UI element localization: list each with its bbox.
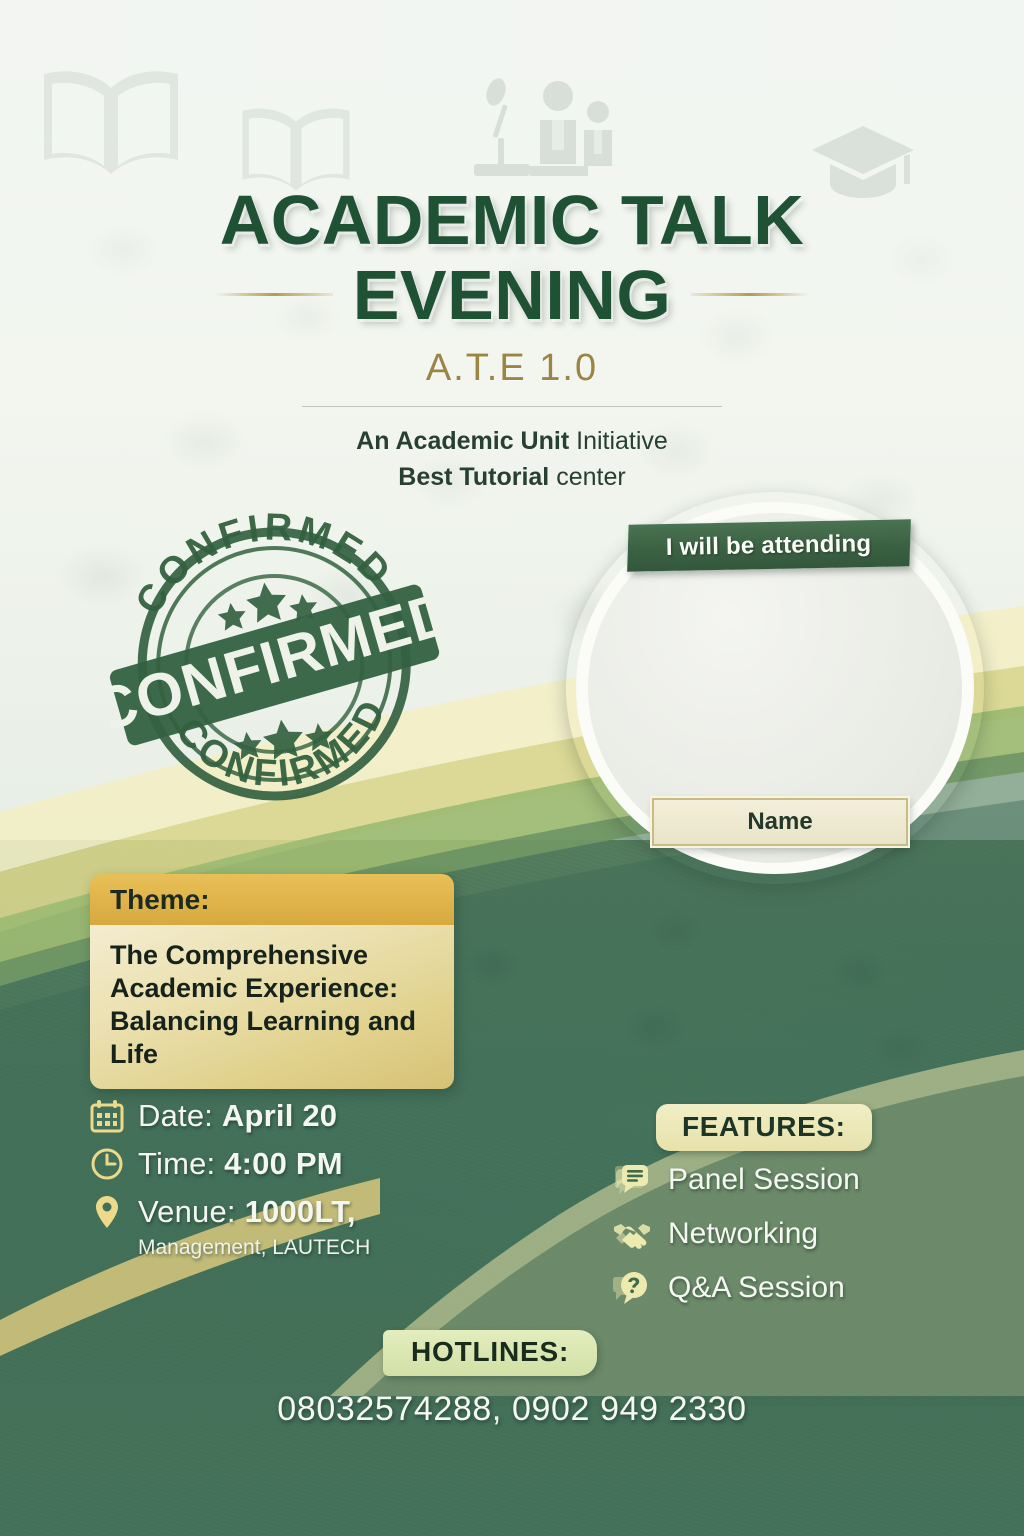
detail-venue-text: Venue: 1000LT,: [138, 1194, 356, 1230]
detail-venue-value: 1000LT,: [245, 1194, 356, 1229]
hotline-numbers: 08032574288, 0902 949 2330: [0, 1390, 1024, 1429]
poster-header: ACADEMIC TALK EVENING A.T.E 1.0 An Acade…: [0, 186, 1024, 496]
name-plate[interactable]: Name: [652, 798, 908, 846]
gold-rule-right: [691, 293, 809, 296]
tagline-bold-1: An Academic Unit: [356, 427, 569, 455]
tagline-rest-2: center: [549, 463, 625, 491]
detail-row-venue: Venue: 1000LT,: [90, 1194, 510, 1230]
detail-time-label: Time:: [138, 1146, 224, 1181]
event-edition-subtitle: A.T.E 1.0: [0, 347, 1024, 390]
theme-heading: Theme:: [90, 874, 454, 925]
detail-row-date: Date: April 20: [90, 1098, 510, 1134]
detail-row-time: Time: 4:00 PM: [90, 1146, 510, 1182]
features-list: Panel Session Networking Q&A Session: [612, 1160, 1002, 1322]
feature-row-networking: Networking: [612, 1214, 1002, 1254]
clock-icon: [90, 1147, 124, 1181]
tagline-bold-2: Best Tutorial: [398, 463, 549, 491]
attendee-photo-frame: I will be attending Name: [566, 492, 984, 884]
confirmed-stamp: CONFIRMED CONFIRMED CONFIRMED: [87, 492, 461, 831]
features-heading-badge: FEATURES:: [656, 1104, 872, 1151]
event-flyer: ACADEMIC TALK EVENING A.T.E 1.0 An Acade…: [0, 0, 1024, 1536]
calendar-icon: [90, 1099, 124, 1133]
detail-venue-label: Venue:: [138, 1194, 245, 1229]
chat-bubble-icon: [612, 1160, 652, 1200]
detail-date-value: April 20: [222, 1098, 337, 1133]
feature-row-panel: Panel Session: [612, 1160, 1002, 1200]
question-bubble-icon: [612, 1268, 652, 1308]
detail-date-text: Date: April 20: [138, 1098, 337, 1134]
attending-banner-label: I will be attending: [666, 530, 872, 562]
event-details-list: Date: April 20 Time: 4:00 PM Venue: 1000…: [90, 1098, 510, 1260]
feature-label-qa: Q&A Session: [668, 1271, 845, 1305]
feature-label-networking: Networking: [668, 1217, 818, 1251]
feature-label-panel: Panel Session: [668, 1163, 860, 1197]
hotlines-heading-badge: HOTLINES:: [383, 1330, 597, 1376]
tagline-rest-1: Initiative: [569, 427, 668, 455]
organizer-tagline: An Academic Unit Initiative Best Tutoria…: [0, 423, 1024, 496]
theme-box: Theme: The Comprehensive Academic Experi…: [90, 874, 454, 1089]
name-placeholder-text: Name: [747, 808, 812, 836]
detail-date-label: Date:: [138, 1098, 222, 1133]
detail-time-value: 4:00 PM: [224, 1146, 343, 1181]
theme-body-text: The Comprehensive Academic Experience: B…: [90, 925, 454, 1089]
gold-rule-left: [215, 293, 333, 296]
page-title-line2: EVENING: [353, 261, 672, 330]
detail-time-text: Time: 4:00 PM: [138, 1146, 343, 1182]
header-divider: [302, 406, 722, 407]
detail-venue-subtext: Management, LAUTECH: [138, 1236, 510, 1260]
page-title-line1: ACADEMIC TALK: [0, 186, 1024, 255]
page-title-line2-row: EVENING: [0, 261, 1024, 330]
feature-row-qa: Q&A Session: [612, 1268, 1002, 1308]
map-pin-icon: [90, 1195, 124, 1229]
handshake-icon: [612, 1214, 652, 1254]
attending-banner: I will be attending: [627, 519, 911, 571]
